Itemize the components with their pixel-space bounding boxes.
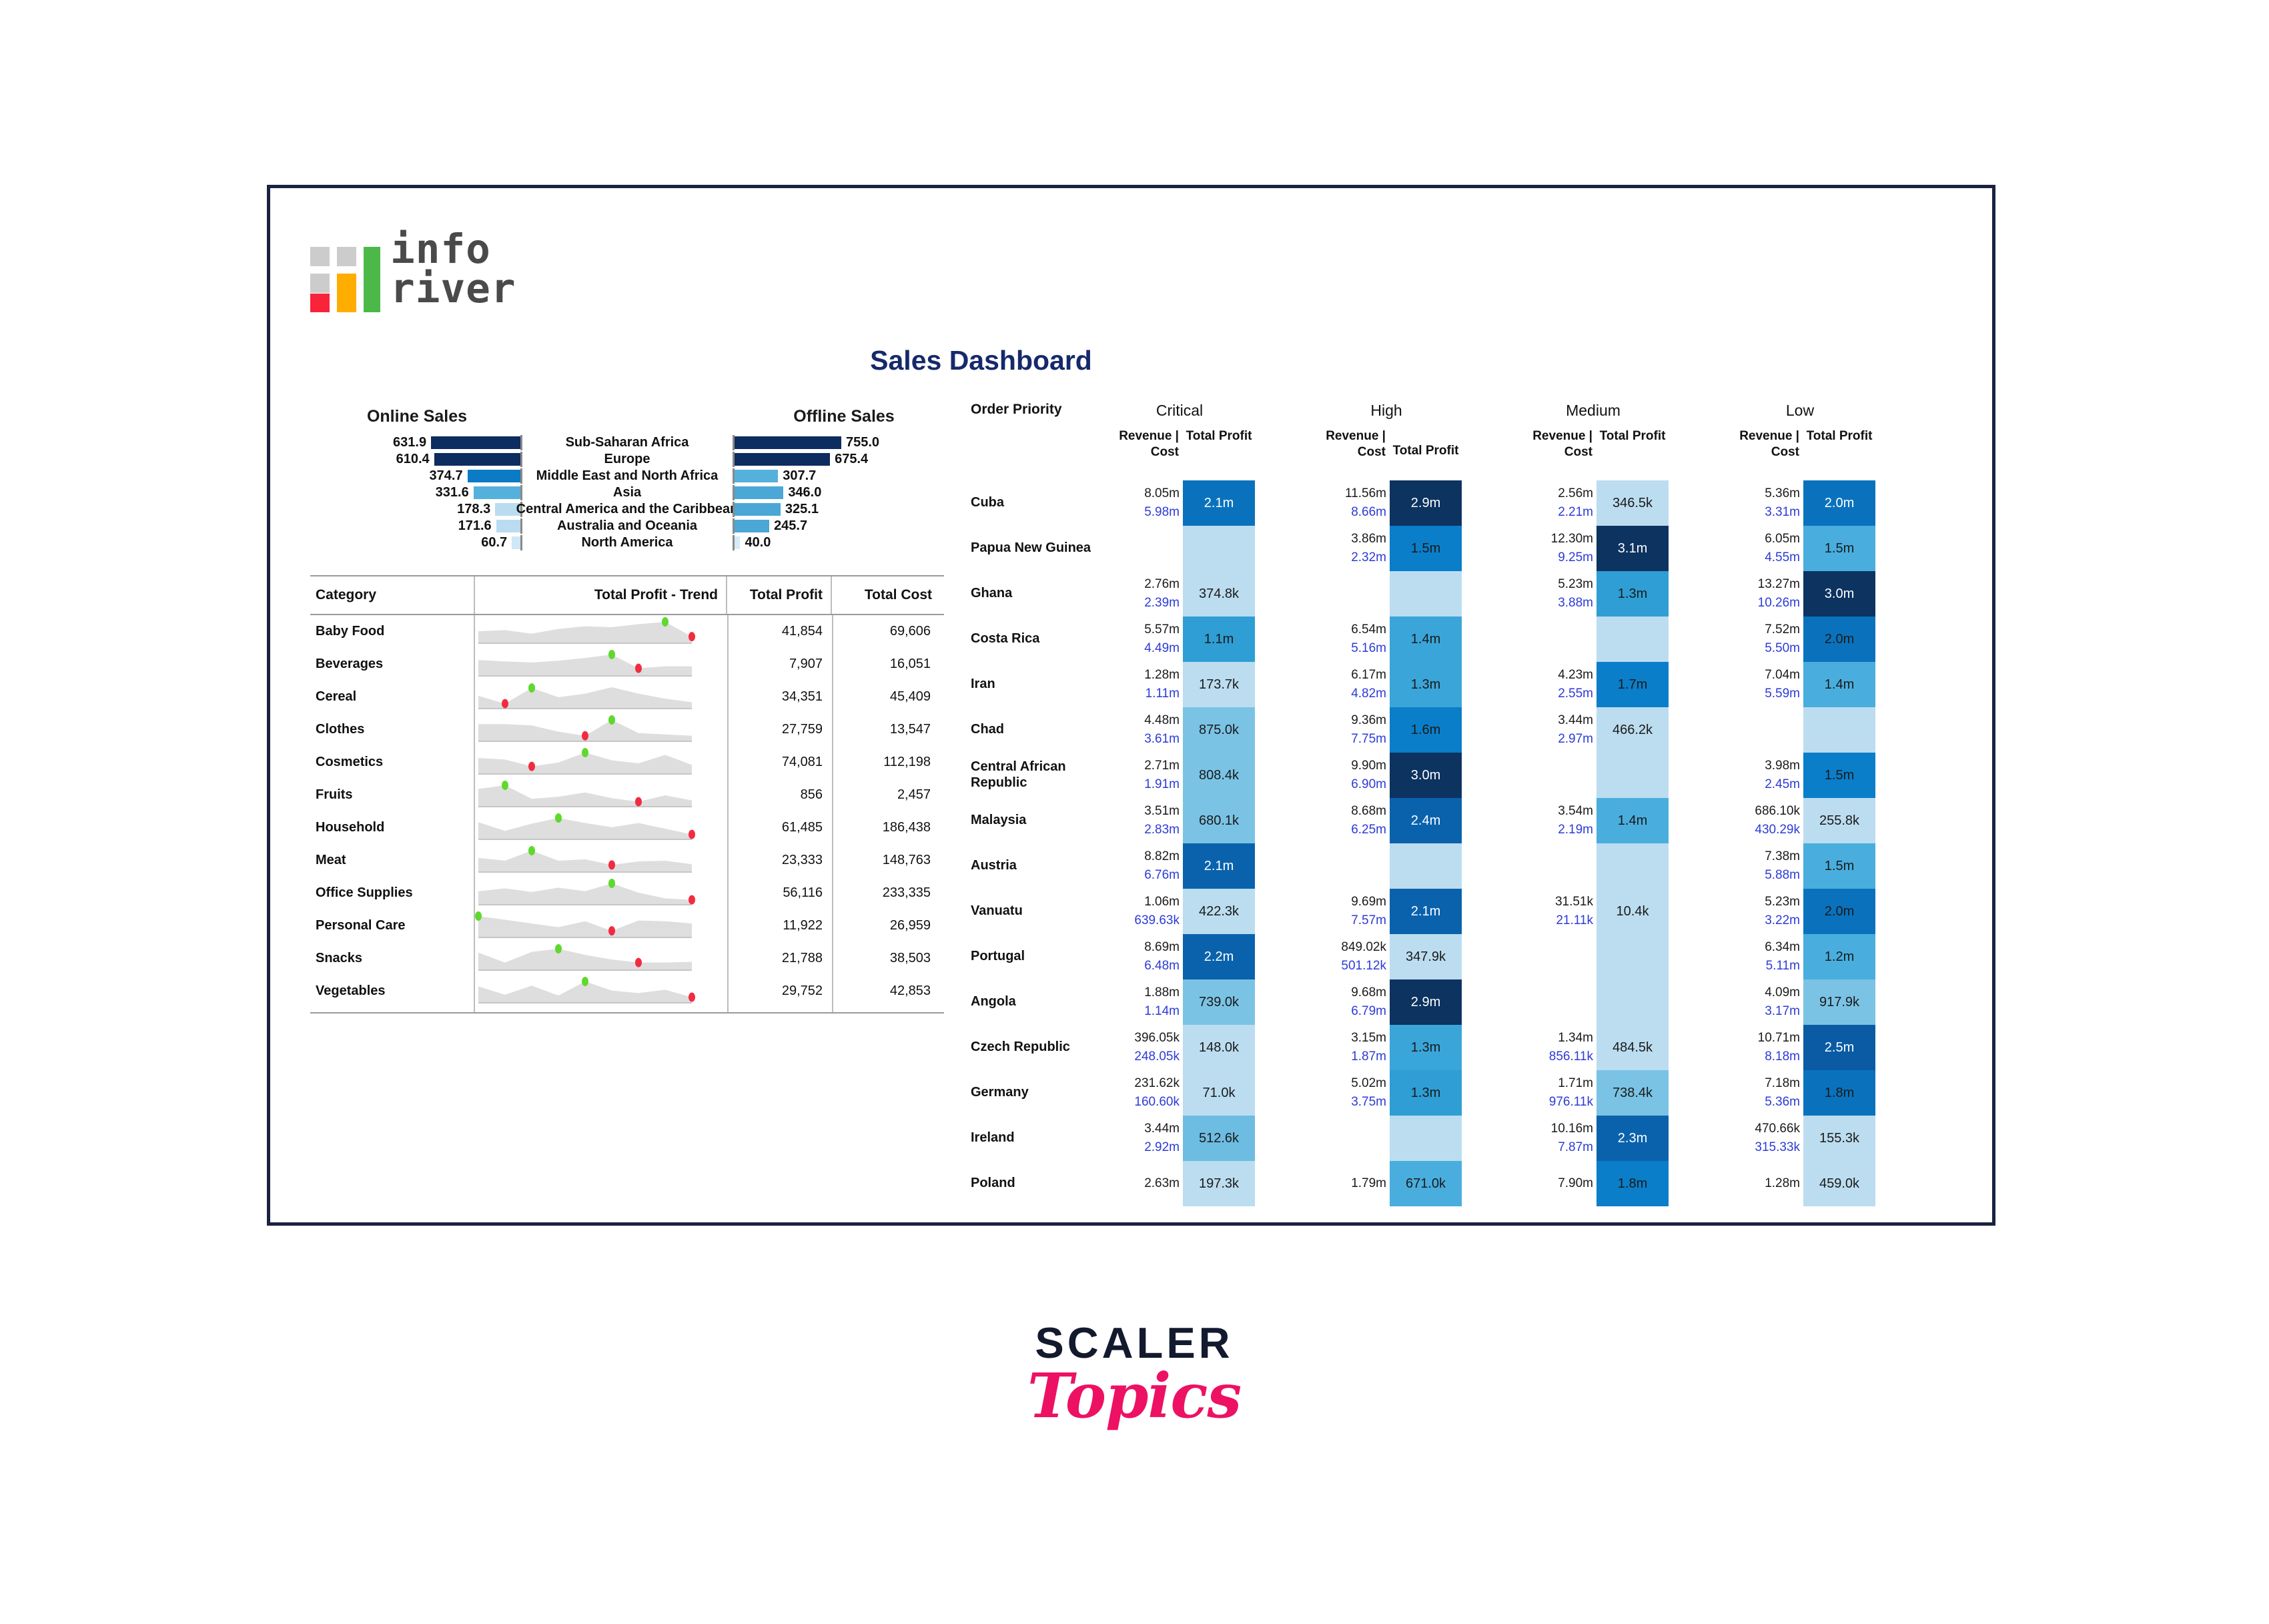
- matrix-country-label: Vanuatu: [971, 889, 1111, 934]
- tornado-row: 171.6Australia and Oceania245.7: [310, 518, 944, 534]
- total-profit-value: 41,854: [729, 615, 832, 648]
- matrix-revenue-cost-cell: 10.16m7.87m: [1518, 1116, 1597, 1161]
- logo-wordmark: info river: [390, 230, 516, 308]
- matrix-cost-value: 160.60k: [1134, 1093, 1180, 1112]
- matrix-revenue-cost-cell: 396.05k248.05k: [1104, 1025, 1183, 1070]
- sparkline: [475, 813, 695, 843]
- matrix-row: Iran1.28m1.11m173.7k6.17m4.82m1.3m4.23m2…: [971, 662, 1938, 707]
- matrix-total-profit-cell: [1597, 979, 1669, 1025]
- matrix-country-label: Poland: [971, 1161, 1111, 1206]
- matrix-country-label: Papua New Guinea: [971, 526, 1111, 571]
- matrix-revenue-value: 11.56m: [1345, 484, 1386, 503]
- matrix-total-profit-cell: 1.7m: [1597, 662, 1669, 707]
- matrix-cost-value: 315.33k: [1755, 1138, 1800, 1157]
- matrix-total-profit-cell: 347.9k: [1390, 934, 1462, 979]
- tornado-row: 610.4Europe675.4: [310, 452, 944, 467]
- matrix-cost-value: 2.45m: [1765, 775, 1800, 794]
- total-cost-value: 42,853: [833, 975, 940, 1007]
- total-profit-value: 29,752: [729, 975, 832, 1007]
- matrix-revenue-value: 686.10k: [1755, 802, 1800, 821]
- tornado-row: 178.3Central America and the Caribbean32…: [310, 502, 944, 517]
- matrix-total-profit-cell: 2.4m: [1390, 798, 1462, 843]
- matrix-cost-value: 4.49m: [1144, 639, 1180, 658]
- matrix-row-header-label: Order Priority: [971, 402, 1117, 418]
- matrix-revenue-value: 7.04m: [1765, 666, 1800, 685]
- sparkline-low-marker: [689, 993, 695, 1002]
- table-row: Meat23,333148,763: [310, 844, 944, 877]
- matrix-subheader-revenue-cost: Revenue | Cost: [1725, 428, 1799, 460]
- matrix-revenue-value: 9.69m: [1351, 893, 1386, 911]
- sparkline-low-marker: [608, 926, 615, 935]
- matrix-revenue-cost-cell: 1.79m: [1311, 1161, 1390, 1206]
- sparkline-high-marker: [502, 781, 508, 790]
- matrix-total-profit-cell: 346.5k: [1597, 480, 1669, 526]
- matrix-cost-value: 5.36m: [1765, 1093, 1800, 1112]
- total-cost-value: 2,457: [833, 779, 940, 811]
- matrix-revenue-value: 8.82m: [1144, 847, 1180, 866]
- matrix-total-profit-cell: 1.3m: [1597, 571, 1669, 617]
- matrix-row: Malaysia3.51m2.83m680.1k8.68m6.25m2.4m3.…: [971, 798, 1938, 843]
- matrix-total-profit-cell: 2.1m: [1183, 480, 1255, 526]
- matrix-revenue-cost-cell: 1.88m1.14m: [1104, 979, 1183, 1025]
- col-header-total-profit: Total Profit: [729, 576, 832, 614]
- matrix-total-profit-cell: 2.0m: [1803, 889, 1875, 934]
- matrix-revenue-value: 1.28m: [1144, 666, 1180, 685]
- category-name: Fruits: [316, 779, 472, 811]
- matrix-total-profit-cell: [1597, 753, 1669, 798]
- matrix-cost-value: 1.91m: [1144, 775, 1180, 794]
- matrix-country-label: Costa Rica: [971, 617, 1111, 662]
- matrix-total-profit-cell: 2.3m: [1597, 1116, 1669, 1161]
- matrix-cost-value: 501.12k: [1341, 957, 1386, 975]
- matrix-total-profit-cell: 197.3k: [1183, 1161, 1255, 1206]
- matrix-subheader-revenue-cost: Revenue | Cost: [1104, 428, 1179, 460]
- tornado-online-value: 631.9: [393, 435, 426, 450]
- tornado-offline-bar: [735, 453, 830, 466]
- matrix-total-profit-cell: [1803, 707, 1875, 753]
- matrix-total-profit-cell: [1597, 843, 1669, 889]
- matrix-total-profit-cell: 2.2m: [1183, 934, 1255, 979]
- matrix-cost-value: 3.17m: [1765, 1002, 1800, 1021]
- matrix-cost-value: 2.19m: [1558, 821, 1593, 839]
- category-name: Cereal: [316, 681, 472, 713]
- matrix-revenue-value: 12.30m: [1551, 530, 1593, 548]
- matrix-revenue-cost-cell: 3.51m2.83m: [1104, 798, 1183, 843]
- matrix-revenue-value: 2.56m: [1558, 484, 1593, 503]
- sparkline-high-marker: [528, 683, 535, 693]
- table-row: Clothes27,75913,547: [310, 713, 944, 746]
- matrix-total-profit-cell: 173.7k: [1183, 662, 1255, 707]
- matrix-country-label: Angola: [971, 979, 1111, 1025]
- tornado-row: 374.7Middle East and North Africa307.7: [310, 468, 944, 484]
- sparkline-high-marker: [582, 748, 588, 757]
- matrix-total-profit-cell: 512.6k: [1183, 1116, 1255, 1161]
- matrix-country-label: Central African Republic: [971, 753, 1111, 798]
- total-profit-value: 856: [729, 779, 832, 811]
- matrix-revenue-cost-cell: 5.57m4.49m: [1104, 617, 1183, 662]
- matrix-total-profit-cell: 1.8m: [1597, 1161, 1669, 1206]
- sparkline: [475, 943, 695, 973]
- tornado-right-header: Offline Sales: [757, 407, 931, 426]
- matrix-total-profit-cell: 2.9m: [1390, 480, 1462, 526]
- matrix-cost-value: 5.88m: [1765, 866, 1800, 885]
- tornado-offline-bar: [735, 486, 783, 499]
- matrix-cost-value: 1.11m: [1146, 685, 1180, 703]
- matrix-row: Czech Republic396.05k248.05k148.0k3.15m1…: [971, 1025, 1938, 1070]
- page-title-text: Sales Dashboard: [870, 345, 1092, 376]
- matrix-revenue-value: 3.98m: [1765, 757, 1800, 775]
- matrix-cost-value: 10.26m: [1758, 594, 1800, 613]
- total-cost-value: 45,409: [833, 681, 940, 713]
- matrix-total-profit-cell: 1.3m: [1390, 1025, 1462, 1070]
- total-cost-value: 112,198: [833, 746, 940, 779]
- tornado-region-label: Sub-Saharan Africa: [524, 435, 731, 450]
- matrix-revenue-value: 6.05m: [1765, 530, 1800, 548]
- matrix-revenue-cost-cell: 12.30m9.25m: [1518, 526, 1597, 571]
- matrix-total-profit-cell: [1390, 843, 1462, 889]
- matrix-total-profit-cell: 2.0m: [1803, 480, 1875, 526]
- matrix-revenue-cost-cell: [1311, 1116, 1390, 1161]
- matrix-revenue-value: 10.71m: [1758, 1029, 1800, 1048]
- matrix-revenue-cost-cell: 2.71m1.91m: [1104, 753, 1183, 798]
- matrix-revenue-value: 396.05k: [1134, 1029, 1180, 1048]
- tornado-region-label: North America: [524, 535, 731, 550]
- matrix-revenue-cost-cell: 9.68m6.79m: [1311, 979, 1390, 1025]
- matrix-revenue-value: 2.76m: [1144, 575, 1180, 594]
- matrix-total-profit-cell: 148.0k: [1183, 1025, 1255, 1070]
- matrix-row: Portugal8.69m6.48m2.2m849.02k501.12k347.…: [971, 934, 1938, 979]
- table-row: Cosmetics74,081112,198: [310, 746, 944, 779]
- matrix-total-profit-cell: 738.4k: [1597, 1070, 1669, 1116]
- sparkline-low-marker: [689, 632, 695, 641]
- matrix-revenue-cost-cell: 8.68m6.25m: [1311, 798, 1390, 843]
- matrix-revenue-cost-cell: 2.76m2.39m: [1104, 571, 1183, 617]
- matrix-total-profit-cell: 1.4m: [1803, 662, 1875, 707]
- matrix-revenue-value: 7.18m: [1765, 1074, 1800, 1093]
- matrix-revenue-value: 13.27m: [1758, 575, 1800, 594]
- matrix-cost-value: 5.59m: [1765, 685, 1800, 703]
- sparkline: [475, 617, 695, 647]
- matrix-row: Ireland3.44m2.92m512.6k10.16m7.87m2.3m47…: [971, 1116, 1938, 1161]
- matrix-revenue-cost-cell: 31.51k21.11k: [1518, 889, 1597, 934]
- tornado-offline-bar: [735, 536, 740, 549]
- tornado-offline-value: 307.7: [783, 468, 816, 484]
- tornado-offline-bar: [735, 436, 841, 449]
- matrix-revenue-cost-cell: 6.05m4.55m: [1725, 526, 1803, 571]
- tornado-offline-value: 346.0: [788, 485, 821, 500]
- logo-bar-orange: [337, 274, 356, 312]
- tornado-online-value: 331.6: [436, 485, 469, 500]
- tornado-row: 60.7North America40.0: [310, 535, 944, 550]
- sparkline-high-marker: [555, 813, 562, 823]
- matrix-total-profit-cell: 2.9m: [1390, 979, 1462, 1025]
- matrix-revenue-cost-cell: 3.54m2.19m: [1518, 798, 1597, 843]
- matrix-revenue-cost-cell: 3.44m2.97m: [1518, 707, 1597, 753]
- sparkline: [475, 911, 695, 941]
- matrix-revenue-cost-cell: 1.28m1.11m: [1104, 662, 1183, 707]
- sparkline-low-marker: [635, 664, 642, 673]
- matrix-total-profit-cell: 2.5m: [1803, 1025, 1875, 1070]
- matrix-cost-value: 2.21m: [1558, 503, 1593, 522]
- matrix-revenue-cost-cell: 5.36m3.31m: [1725, 480, 1803, 526]
- total-profit-value: 21,788: [729, 942, 832, 975]
- matrix-row: Ghana2.76m2.39m374.8k5.23m3.88m1.3m13.27…: [971, 571, 1938, 617]
- matrix-cost-value: 4.82m: [1351, 685, 1386, 703]
- matrix-row: Germany231.62k160.60k71.0k5.02m3.75m1.3m…: [971, 1070, 1938, 1116]
- tornado-offline-value: 40.0: [745, 535, 771, 550]
- matrix-revenue-value: 6.17m: [1351, 666, 1386, 685]
- matrix-revenue-cost-cell: 2.56m2.21m: [1518, 480, 1597, 526]
- matrix-revenue-cost-cell: 9.36m7.75m: [1311, 707, 1390, 753]
- matrix-revenue-value: 1.71m: [1558, 1074, 1593, 1093]
- matrix-row: Costa Rica5.57m4.49m1.1m6.54m5.16m1.4m7.…: [971, 617, 1938, 662]
- matrix-row: Cuba8.05m5.98m2.1m11.56m8.66m2.9m2.56m2.…: [971, 480, 1938, 526]
- tornado-offline-value: 755.0: [846, 435, 879, 450]
- matrix-revenue-cost-cell: 8.69m6.48m: [1104, 934, 1183, 979]
- tornado-left-axis: [520, 435, 522, 450]
- col-header-category: Category: [316, 576, 472, 614]
- matrix-country-label: Iran: [971, 662, 1111, 707]
- matrix-cost-value: 9.25m: [1558, 548, 1593, 567]
- matrix-revenue-value: 2.63m: [1144, 1174, 1180, 1193]
- tornado-region-label: Europe: [524, 452, 731, 467]
- matrix-total-profit-cell: 484.5k: [1597, 1025, 1669, 1070]
- matrix-cost-value: 2.32m: [1351, 548, 1386, 567]
- matrix-revenue-cost-cell: 2.63m: [1104, 1161, 1183, 1206]
- category-name: Clothes: [316, 713, 472, 746]
- matrix-revenue-cost-cell: 9.69m7.57m: [1311, 889, 1390, 934]
- matrix-revenue-value: 3.15m: [1351, 1029, 1386, 1048]
- matrix-cost-value: 1.14m: [1144, 1002, 1180, 1021]
- sparkline: [475, 682, 695, 712]
- sparkline-low-marker: [689, 895, 695, 905]
- matrix-country-label: Ireland: [971, 1116, 1111, 1161]
- matrix-revenue-value: 8.05m: [1144, 484, 1180, 503]
- total-profit-value: 27,759: [729, 713, 832, 746]
- sparkline: [475, 780, 695, 810]
- tornado-offline-group: 675.4: [735, 452, 868, 467]
- matrix-total-profit-cell: 2.1m: [1183, 843, 1255, 889]
- matrix-total-profit-cell: 1.3m: [1390, 662, 1462, 707]
- matrix-revenue-value: 7.38m: [1765, 847, 1800, 866]
- total-cost-value: 13,547: [833, 713, 940, 746]
- tornado-region-label: Asia: [524, 485, 731, 500]
- table-row: Vegetables29,75242,853: [310, 975, 944, 1007]
- matrix-revenue-value: 4.23m: [1558, 666, 1593, 685]
- matrix-revenue-value: 3.54m: [1558, 802, 1593, 821]
- matrix-cost-value: 8.66m: [1351, 503, 1386, 522]
- matrix-revenue-value: 1.79m: [1351, 1174, 1386, 1193]
- matrix-cost-value: 6.25m: [1351, 821, 1386, 839]
- matrix-revenue-cost-cell: 6.17m4.82m: [1311, 662, 1390, 707]
- category-name: Meat: [316, 844, 472, 877]
- tornado-left-axis: [520, 518, 522, 534]
- matrix-cost-value: 7.75m: [1351, 730, 1386, 749]
- matrix-revenue-value: 5.36m: [1765, 484, 1800, 503]
- matrix-total-profit-cell: [1390, 571, 1462, 617]
- matrix-total-profit-cell: 1.5m: [1803, 526, 1875, 571]
- tornado-online-bar: [474, 486, 520, 499]
- matrix-revenue-cost-cell: 1.28m: [1725, 1161, 1803, 1206]
- matrix-revenue-cost-cell: [1104, 526, 1183, 571]
- matrix-revenue-cost-cell: 7.52m5.50m: [1725, 617, 1803, 662]
- sparkline-high-marker: [608, 650, 615, 659]
- matrix-total-profit-cell: 374.8k: [1183, 571, 1255, 617]
- matrix-row: Vanuatu1.06m639.63k422.3k9.69m7.57m2.1m3…: [971, 889, 1938, 934]
- matrix-revenue-value: 1.28m: [1765, 1174, 1800, 1193]
- matrix-total-profit-cell: 1.2m: [1803, 934, 1875, 979]
- matrix-total-profit-cell: 3.0m: [1390, 753, 1462, 798]
- matrix-revenue-value: 3.86m: [1351, 530, 1386, 548]
- matrix-cost-value: 6.76m: [1144, 866, 1180, 885]
- tornado-offline-group: 325.1: [735, 502, 819, 517]
- matrix-subheader-row: Revenue | CostTotal ProfitRevenue | Cost…: [971, 428, 1938, 480]
- tornado-offline-group: 307.7: [735, 468, 816, 484]
- matrix-priority-header: Low: [1725, 402, 1875, 420]
- sparkline-high-marker: [528, 846, 535, 855]
- category-name: Beverages: [316, 648, 472, 681]
- matrix-revenue-value: 1.88m: [1144, 983, 1180, 1002]
- category-name: Cosmetics: [316, 746, 472, 779]
- matrix-revenue-cost-cell: 1.06m639.63k: [1104, 889, 1183, 934]
- tornado-online-bar: [496, 520, 520, 532]
- matrix-total-profit-cell: 255.8k: [1803, 798, 1875, 843]
- matrix-total-profit-cell: 466.2k: [1597, 707, 1669, 753]
- tornado-offline-value: 325.1: [785, 502, 819, 517]
- matrix-cost-value: 2.92m: [1144, 1138, 1180, 1157]
- matrix-revenue-cost-cell: 8.82m6.76m: [1104, 843, 1183, 889]
- tornado-offline-value: 245.7: [774, 518, 807, 534]
- tornado-online-group: 60.7: [310, 535, 520, 550]
- matrix-revenue-cost-cell: 470.66k315.33k: [1725, 1116, 1803, 1161]
- matrix-revenue-cost-cell: [1311, 571, 1390, 617]
- matrix-total-profit-cell: 1.5m: [1390, 526, 1462, 571]
- total-cost-value: 233,335: [833, 877, 940, 909]
- matrix-priority-header-row: Order Priority CriticalHighMediumLow: [971, 402, 1938, 428]
- matrix-revenue-cost-cell: [1518, 934, 1597, 979]
- tornado-online-bar: [512, 536, 520, 549]
- tornado-online-group: 331.6: [310, 485, 520, 500]
- matrix-subheader-total-profit: Total Profit: [1183, 428, 1255, 444]
- matrix-total-profit-cell: 459.0k: [1803, 1161, 1875, 1206]
- logo-word-river: river: [390, 269, 516, 308]
- matrix-total-profit-cell: 71.0k: [1183, 1070, 1255, 1116]
- matrix-priority-header: Critical: [1104, 402, 1255, 420]
- sparkline-low-marker: [635, 797, 642, 807]
- matrix-subheader-total-profit: Total Profit: [1597, 428, 1669, 444]
- tornado-region-label: Australia and Oceania: [524, 518, 731, 534]
- matrix-cost-value: 7.57m: [1351, 911, 1386, 930]
- matrix-row: Central African Republic2.71m1.91m808.4k…: [971, 753, 1938, 798]
- matrix-cost-value: 1.87m: [1351, 1048, 1386, 1066]
- matrix-revenue-cost-cell: 1.34m856.11k: [1518, 1025, 1597, 1070]
- matrix-subheader-revenue-cost: Revenue | Cost: [1311, 428, 1386, 460]
- tornado-online-bar: [431, 436, 520, 449]
- matrix-cost-value: 3.88m: [1558, 594, 1593, 613]
- tornado-offline-group: 245.7: [735, 518, 807, 534]
- matrix-total-profit-cell: [1597, 934, 1669, 979]
- matrix-row: Austria8.82m6.76m2.1m7.38m5.88m1.5m: [971, 843, 1938, 889]
- table-row: Personal Care11,92226,959: [310, 909, 944, 942]
- matrix-total-profit-cell: 3.0m: [1803, 571, 1875, 617]
- category-name: Snacks: [316, 942, 472, 975]
- matrix-revenue-cost-cell: [1518, 617, 1597, 662]
- matrix-row: Papua New Guinea3.86m2.32m1.5m12.30m9.25…: [971, 526, 1938, 571]
- matrix-revenue-value: 9.90m: [1351, 757, 1386, 775]
- tornado-online-value: 374.7: [430, 468, 463, 484]
- sparkline-high-marker: [555, 944, 562, 953]
- matrix-revenue-cost-cell: 7.18m5.36m: [1725, 1070, 1803, 1116]
- table-row: Fruits8562,457: [310, 779, 944, 811]
- matrix-cost-value: 2.39m: [1144, 594, 1180, 613]
- matrix-revenue-value: 7.52m: [1765, 621, 1800, 639]
- matrix-total-profit-cell: 671.0k: [1390, 1161, 1462, 1206]
- matrix-revenue-cost-cell: 3.98m2.45m: [1725, 753, 1803, 798]
- tornado-offline-group: 40.0: [735, 535, 771, 550]
- tornado-left-axis: [520, 485, 522, 500]
- category-name: Baby Food: [316, 615, 472, 648]
- matrix-total-profit-cell: 1.5m: [1803, 753, 1875, 798]
- total-cost-value: 16,051: [833, 648, 940, 681]
- matrix-revenue-value: 3.44m: [1144, 1120, 1180, 1138]
- total-cost-value: 69,606: [833, 615, 940, 648]
- total-profit-value: 61,485: [729, 811, 832, 844]
- sparkline-low-marker: [528, 762, 535, 771]
- matrix-revenue-cost-cell: 3.86m2.32m: [1311, 526, 1390, 571]
- matrix-cost-value: 3.61m: [1144, 730, 1180, 749]
- tornado-online-group: 374.7: [310, 468, 520, 484]
- table-row: Baby Food41,85469,606: [310, 615, 944, 648]
- matrix-revenue-cost-cell: 4.09m3.17m: [1725, 979, 1803, 1025]
- matrix-revenue-cost-cell: 10.71m8.18m: [1725, 1025, 1803, 1070]
- sparkline-high-marker: [582, 977, 588, 986]
- matrix-cost-value: 3.22m: [1765, 911, 1800, 930]
- tornado-offline-value: 675.4: [835, 452, 868, 467]
- total-profit-value: 11,922: [729, 909, 832, 942]
- tornado-online-bar: [434, 453, 520, 466]
- table-bottom-rule: [310, 1012, 944, 1013]
- category-name: Office Supplies: [316, 877, 472, 909]
- matrix-total-profit-cell: 808.4k: [1183, 753, 1255, 798]
- matrix-revenue-cost-cell: 4.48m3.61m: [1104, 707, 1183, 753]
- total-cost-value: 26,959: [833, 909, 940, 942]
- total-profit-value: 23,333: [729, 844, 832, 877]
- total-cost-value: 186,438: [833, 811, 940, 844]
- tornado-offline-group: 346.0: [735, 485, 821, 500]
- matrix-total-profit-cell: 680.1k: [1183, 798, 1255, 843]
- sparkline: [475, 649, 695, 679]
- tornado-offline-bar: [735, 470, 778, 482]
- table-row: Household61,485186,438: [310, 811, 944, 844]
- logo-square-red: [310, 294, 330, 312]
- matrix-total-profit-cell: [1597, 617, 1669, 662]
- matrix-revenue-cost-cell: [1725, 707, 1803, 753]
- sparkline: [475, 715, 695, 745]
- matrix-cost-value: 8.18m: [1765, 1048, 1800, 1066]
- tornado-chart: Online Sales Offline Sales 631.9Sub-Saha…: [310, 407, 944, 574]
- tornado-online-group: 171.6: [310, 518, 520, 534]
- matrix-revenue-cost-cell: 6.54m5.16m: [1311, 617, 1390, 662]
- matrix-revenue-value: 9.36m: [1351, 711, 1386, 730]
- tornado-left-axis: [520, 535, 522, 550]
- matrix-country-label: Czech Republic: [971, 1025, 1111, 1070]
- matrix-total-profit-cell: 1.3m: [1390, 1070, 1462, 1116]
- matrix-revenue-value: 3.44m: [1558, 711, 1593, 730]
- tornado-left-axis: [520, 468, 522, 484]
- matrix-total-profit-cell: 2.0m: [1803, 617, 1875, 662]
- matrix-total-profit-cell: 875.0k: [1183, 707, 1255, 753]
- matrix-country-label: Portugal: [971, 934, 1111, 979]
